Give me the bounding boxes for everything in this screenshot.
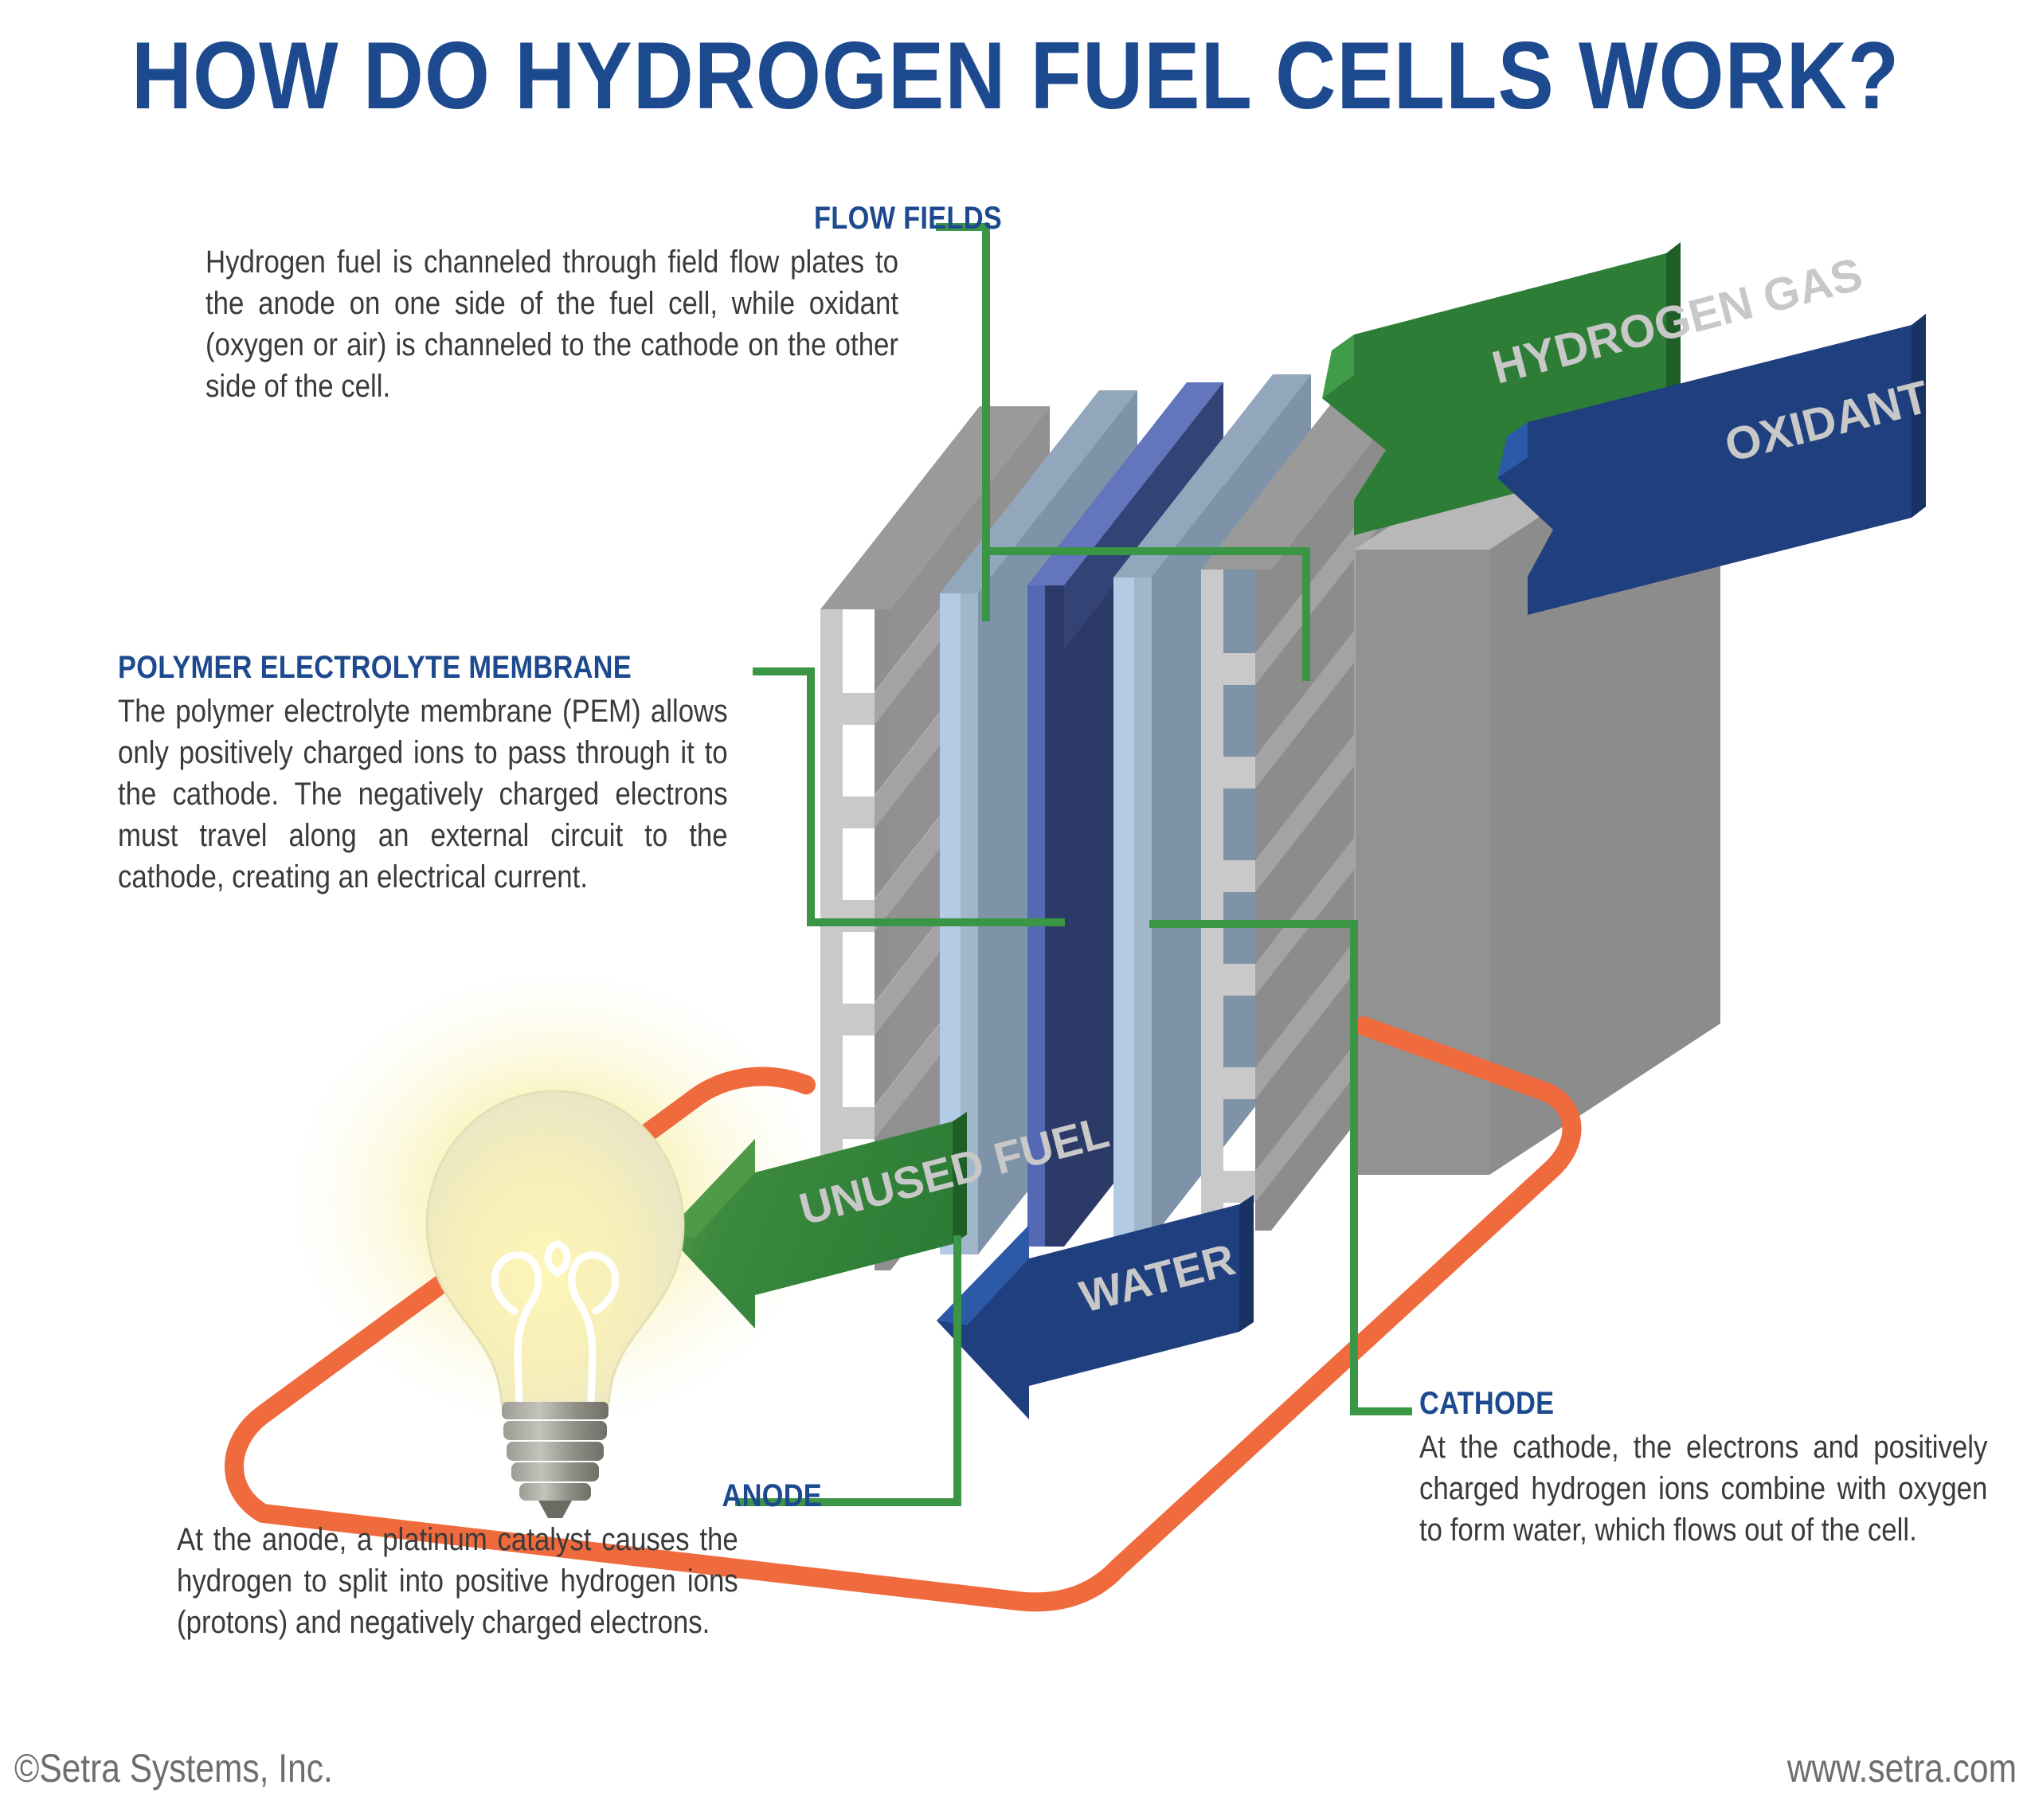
section-pem: POLYMER ELECTROLYTE MEMBRANE The polymer… <box>118 650 819 898</box>
section-heading-pem: POLYMER ELECTROLYTE MEMBRANE <box>118 650 721 686</box>
light-bulb <box>427 1091 683 1518</box>
section-body-flow-fields: Hydrogen fuel is channeled through field… <box>205 241 898 407</box>
section-body-pem: The polymer electrolyte membrane (PEM) a… <box>118 691 728 898</box>
section-heading-flow-fields: FLOW FIELDS <box>317 201 1002 237</box>
infographic-canvas: HYDROGEN GAS OXIDANT UNUSED FUEL WATER <box>0 0 2031 1820</box>
section-cathode: CATHODE At the cathode, the electrons an… <box>1419 1386 2031 1551</box>
section-body-anode: At the anode, a platinum catalyst causes… <box>177 1519 738 1643</box>
footer-copyright: ©Setra Systems, Inc. <box>14 1745 333 1791</box>
page-title: HOW DO HYDROGEN FUEL CELLS WORK? <box>122 25 1909 126</box>
section-flow-fields: FLOW FIELDS Hydrogen fuel is channeled t… <box>205 201 1002 407</box>
section-heading-anode: ANODE <box>267 1478 822 1514</box>
section-anode: ANODE At the anode, a platinum catalyst … <box>177 1478 822 1643</box>
section-heading-cathode: CATHODE <box>1419 1386 1981 1422</box>
section-body-cathode: At the cathode, the electrons and positi… <box>1419 1427 1987 1551</box>
footer-website[interactable]: www.setra.com <box>1787 1745 2017 1791</box>
